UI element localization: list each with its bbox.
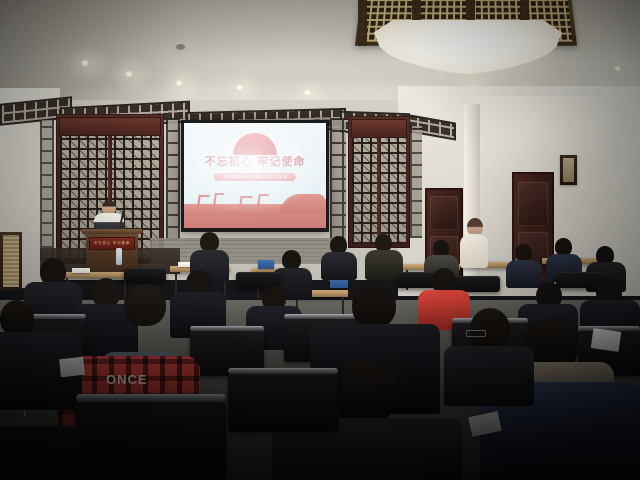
attendee-torso (321, 252, 357, 280)
panel-transom (351, 119, 407, 138)
podium-plaque-text: 不忘初心 牢记使命 (94, 241, 130, 246)
chair (228, 372, 338, 432)
chair-frame (284, 314, 360, 319)
standing-attendee-torso (460, 234, 488, 268)
attendee-head (282, 250, 301, 270)
lamp-diffuser (374, 20, 562, 76)
chair (0, 426, 80, 480)
water-bottle (116, 248, 122, 265)
attendee-head (330, 360, 396, 426)
conference-hall-photo: 不忘初心 牢记使命 主题教育动员部署大会专题党课 不忘初心 牢记使命 (0, 0, 640, 480)
rising-sun-graphic (233, 133, 277, 155)
slide-subtitle-banner: 主题教育动员部署大会专题党课 (214, 173, 296, 181)
panel-mullion (377, 138, 381, 244)
right-wall-highlight (470, 96, 640, 246)
attendee-torso (444, 346, 534, 406)
glasses-icon (466, 330, 486, 337)
wall-hanging (0, 232, 22, 290)
attendee-head (0, 300, 34, 336)
door-panel (518, 182, 548, 226)
downlight-icon (81, 60, 89, 66)
podium-top-surface (82, 229, 142, 234)
attendee-head (470, 308, 510, 350)
downlight-icon (175, 80, 183, 86)
table (60, 272, 130, 278)
downlight-icon (304, 90, 311, 95)
downlight-icon (125, 71, 133, 77)
downlight-icon (614, 66, 621, 71)
podium-plaque: 不忘初心 牢记使命 (89, 237, 135, 250)
chair-frame (190, 326, 264, 331)
downlight-icon (236, 85, 243, 90)
attendee-head (124, 284, 166, 326)
lattice-strip (330, 118, 346, 240)
chair (124, 268, 166, 282)
attendee-head (200, 232, 219, 252)
ceiling-lamp (352, 0, 580, 92)
projection-screen: 不忘初心 牢记使命 主题教育动员部署大会专题党课 (181, 120, 329, 232)
lattice-screen-panel (348, 116, 410, 248)
panel-transom (59, 117, 161, 136)
smoke-detector-icon (176, 44, 185, 49)
handout-paper (59, 357, 85, 377)
lattice-strip (166, 118, 180, 240)
chair-frame (228, 368, 338, 374)
shirt-text: ONCE (106, 372, 148, 387)
lattice-strip (40, 120, 54, 260)
slide-landscape-graphic (184, 204, 326, 228)
wall-hanging-weave (3, 235, 19, 287)
chair (76, 400, 226, 480)
blue-folder (258, 260, 274, 269)
slide-subtitle-text: 主题教育动员部署大会专题党课 (223, 174, 287, 180)
attendee-torso (506, 260, 542, 288)
chair-frame (76, 394, 226, 402)
paper-sheet (72, 268, 90, 273)
framed-picture (560, 155, 577, 185)
lattice-strip (410, 126, 422, 238)
door-panel (430, 196, 457, 230)
projection-screen-surface: 不忘初心 牢记使命 主题教育动员部署大会专题党课 (184, 123, 326, 228)
handout-paper (591, 328, 622, 352)
attendee-head (352, 282, 396, 328)
slide-main-title: 不忘初心 牢记使命 (184, 153, 326, 169)
